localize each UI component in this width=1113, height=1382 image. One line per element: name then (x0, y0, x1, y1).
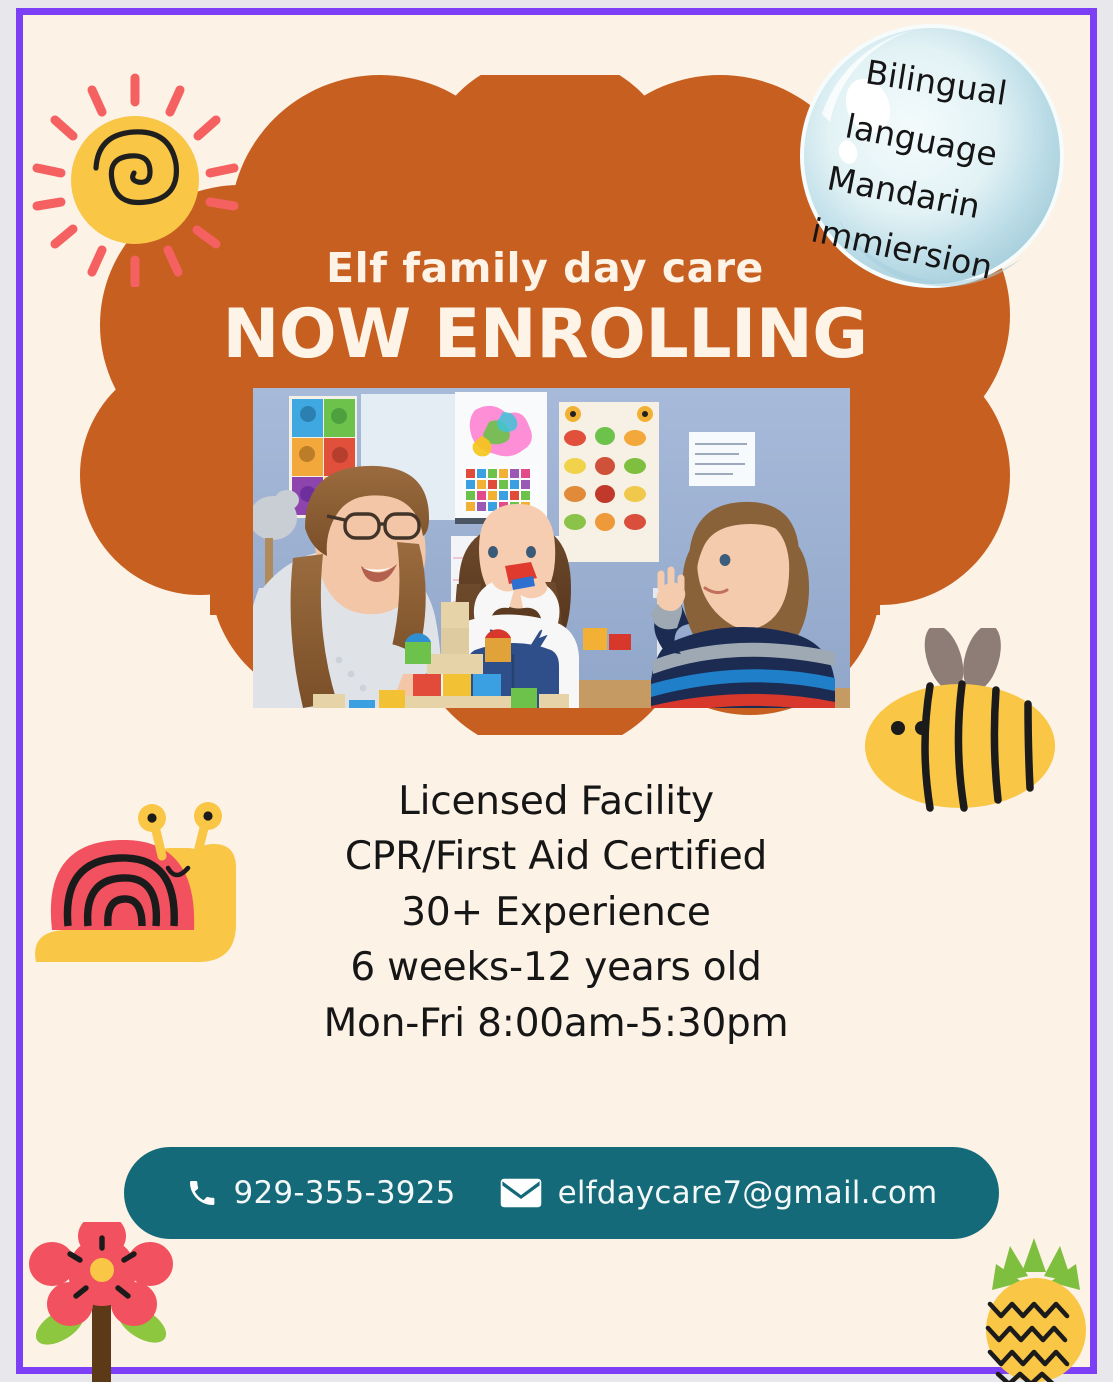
feature-line: Licensed Facility (156, 774, 956, 829)
bubble-text-block: Bilingual language Mandarin immiersion (798, 22, 1066, 290)
snail-icon (22, 802, 244, 984)
email-address: elfdaycare7@gmail.com (558, 1175, 938, 1211)
flyer-poster: Elf family day care NOW ENROLLING (0, 0, 1113, 1382)
pineapple-icon (966, 1232, 1106, 1382)
feature-line: Mon-Fri 8:00am-5:30pm (156, 996, 956, 1051)
bubble-line-2: language (842, 106, 1000, 174)
phone-contact[interactable]: 929-355-3925 (186, 1175, 456, 1211)
phone-icon (186, 1177, 218, 1209)
contact-bar: 929-355-3925 elfdaycare7@gmail.com (124, 1147, 999, 1239)
feature-line: 30+ Experience (156, 885, 956, 940)
phone-number: 929-355-3925 (234, 1175, 456, 1211)
feature-line: 6 weeks-12 years old (156, 940, 956, 995)
envelope-icon (500, 1177, 542, 1209)
poster-canvas: Elf family day care NOW ENROLLING (0, 0, 1113, 1382)
email-contact[interactable]: elfdaycare7@gmail.com (500, 1175, 938, 1211)
flower-icon (26, 1222, 186, 1382)
bilingual-bubble: Bilingual language Mandarin immiersion (798, 22, 1066, 290)
bee-icon (858, 628, 1068, 828)
bubble-line-3: Mandarin (824, 158, 983, 226)
sun-icon (28, 72, 243, 287)
bubble-line-1: Bilingual (863, 52, 1010, 113)
features-list: Licensed Facility CPR/First Aid Certifie… (156, 774, 956, 1051)
feature-line: CPR/First Aid Certified (156, 829, 956, 884)
classroom-photo (253, 388, 850, 708)
